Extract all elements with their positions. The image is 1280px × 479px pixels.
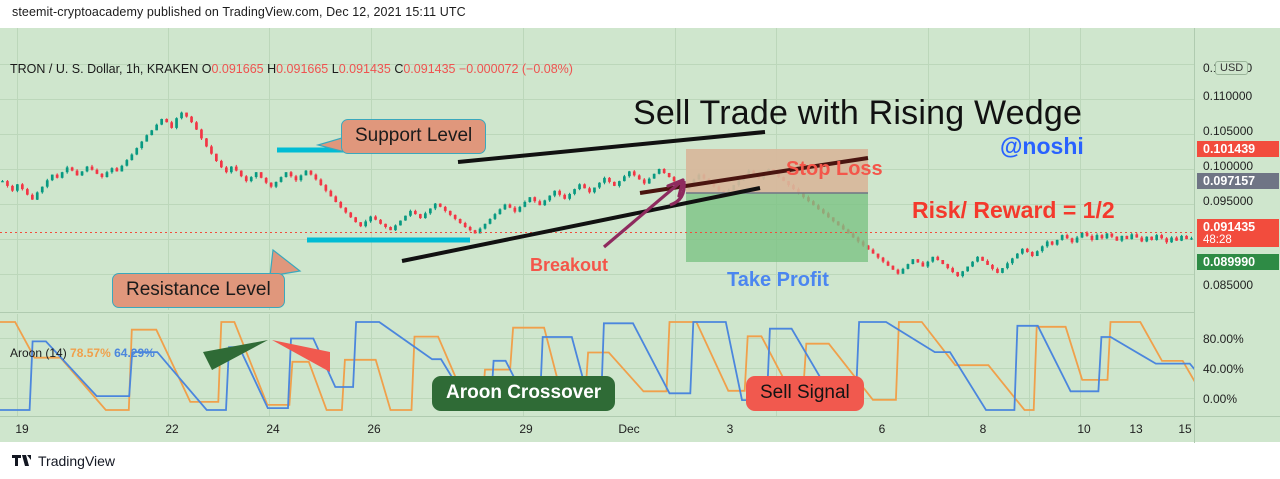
aroon-tick-0: 0.00% [1203, 392, 1237, 406]
chart-legend: TRON / U. S. Dollar, 1h, KRAKEN O0.09166… [10, 62, 573, 76]
take-profit-price-value: 0.089990 [1203, 255, 1255, 269]
countdown-timer: 48:28 [1203, 234, 1279, 246]
pane-divider [0, 312, 1280, 313]
chart-title-annotation: Sell Trade with Rising Wedge [633, 94, 1082, 133]
time-tick-1: 22 [165, 422, 178, 436]
legend-open-tag: O [202, 62, 212, 76]
legend-low-tag: L [332, 62, 339, 76]
take-profit-zone [686, 193, 868, 262]
tradingview-footer: TradingView [12, 453, 115, 469]
legend-high-tag: H [267, 62, 276, 76]
tradingview-logo-icon [12, 454, 32, 468]
stop-loss-label: Stop Loss [786, 158, 883, 181]
time-tick-9: 10 [1077, 422, 1090, 436]
tradingview-brand: TradingView [38, 453, 115, 469]
legend-close-value: 0.091435 [403, 62, 455, 76]
price-tick-3: 0.100000 [1203, 159, 1253, 173]
price-tick-1: 0.110000 [1203, 89, 1252, 103]
aroon-callout-tail [203, 340, 268, 370]
time-tick-6: 3 [727, 422, 734, 436]
time-tick-4: 29 [519, 422, 532, 436]
price-tick-2: 0.105000 [1203, 124, 1253, 138]
legend-high-value: 0.091665 [276, 62, 328, 76]
current-price-badge[interactable]: 0.091435 48:28 [1197, 219, 1279, 247]
breakout-label: Breakout [530, 255, 608, 276]
axis-separator [1194, 28, 1195, 416]
price-tick-5: 0.085000 [1203, 278, 1253, 292]
time-axis-separator [1194, 417, 1195, 443]
current-price-value: 0.091435 [1203, 220, 1255, 234]
entry-price-badge[interactable]: 0.097157 [1197, 173, 1279, 189]
tradingview-chart-screenshot: steemit-cryptoacademy published on Tradi… [0, 0, 1280, 479]
aroon-up-value: 78.57% [70, 346, 111, 360]
legend-open-value: 0.091665 [211, 62, 263, 76]
legend-symbol[interactable]: TRON / U. S. Dollar, 1h, KRAKEN [10, 62, 198, 76]
price-axis[interactable]: 0.115000 USD 0.110000 0.105000 0.100000 … [1194, 28, 1280, 416]
currency-badge[interactable]: USD [1215, 61, 1248, 75]
take-profit-label: Take Profit [727, 269, 829, 292]
resistance-level-callout: Resistance Level [112, 273, 285, 308]
time-tick-3: 26 [367, 422, 380, 436]
time-tick-5: Dec [618, 422, 639, 436]
time-tick-0: 19 [15, 422, 28, 436]
price-tick-4: 0.095000 [1203, 194, 1253, 208]
time-tick-2: 24 [266, 422, 279, 436]
risk-reward-label: Risk/ Reward = 1/2 [912, 197, 1115, 224]
legend-change: −0.000072 (−0.08%) [459, 62, 573, 76]
aroon-legend-name[interactable]: Aroon (14) [10, 346, 67, 360]
aroon-legend: Aroon (14) 78.57% 64.29% [10, 346, 155, 360]
stop-loss-price-badge[interactable]: 0.101439 [1197, 141, 1279, 157]
aroon-crossover-callout: Aroon Crossover [432, 376, 615, 411]
sell-callout-tail [272, 340, 330, 372]
time-tick-7: 6 [879, 422, 886, 436]
take-profit-price-badge[interactable]: 0.089990 [1197, 254, 1279, 270]
entry-price-value: 0.097157 [1203, 174, 1255, 188]
aroon-tick-40: 40.00% [1203, 362, 1244, 376]
published-byline: steemit-cryptoacademy published on Tradi… [12, 5, 466, 19]
legend-low-value: 0.091435 [339, 62, 391, 76]
time-tick-11: 15 [1178, 422, 1191, 436]
stop-loss-price-value: 0.101439 [1203, 142, 1255, 156]
legend-close-tag: C [394, 62, 403, 76]
time-axis[interactable]: 19 22 24 26 29 Dec 3 6 8 10 13 15 [0, 416, 1280, 442]
time-tick-8: 8 [980, 422, 987, 436]
author-handle: @noshi [1000, 133, 1084, 160]
chart-frame: TRON / U. S. Dollar, 1h, KRAKEN O0.09166… [0, 28, 1280, 416]
time-tick-10: 13 [1129, 422, 1142, 436]
sell-signal-callout: Sell Signal [746, 376, 864, 411]
aroon-down-value: 64.29% [114, 346, 155, 360]
support-level-callout: Support Level [341, 119, 486, 154]
aroon-tick-80: 80.00% [1203, 332, 1244, 346]
breakout-arrow [604, 180, 684, 247]
